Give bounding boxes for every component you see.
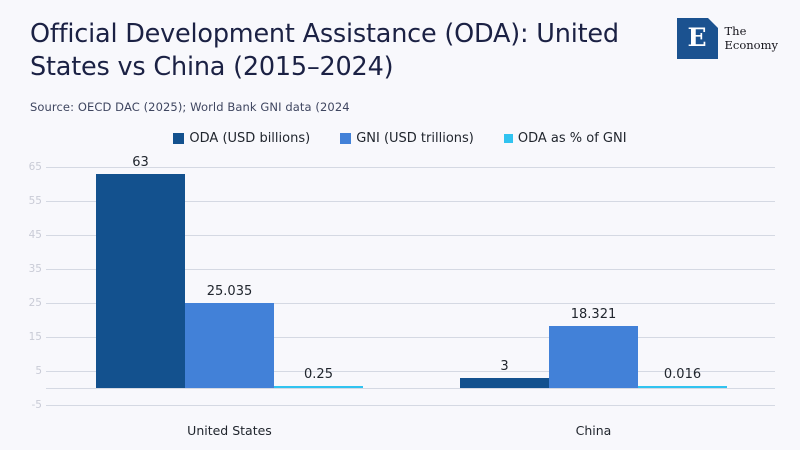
legend-item[interactable]: GNI (USD trillions) bbox=[340, 131, 474, 146]
y-axis-tick-label: 15 bbox=[2, 331, 42, 343]
bar-value-label: 18.321 bbox=[549, 307, 638, 322]
legend-label: ODA as % of GNI bbox=[518, 131, 627, 146]
page-title: Official Development Assistance (ODA): U… bbox=[30, 18, 655, 84]
x-axis-category-label: China bbox=[460, 423, 727, 438]
legend-label: GNI (USD trillions) bbox=[356, 131, 474, 146]
bar-value-label: 3 bbox=[460, 359, 549, 374]
brand-name-line2: Economy bbox=[725, 39, 779, 53]
chart-header: Official Development Assistance (ODA): U… bbox=[0, 0, 800, 120]
y-axis-tick-label: -5 bbox=[2, 399, 42, 411]
source-note: Source: OECD DAC (2025); World Bank GNI … bbox=[30, 100, 350, 114]
chart-bar[interactable] bbox=[185, 303, 274, 388]
legend-swatch-icon bbox=[173, 133, 184, 144]
y-axis-tick-label: 25 bbox=[2, 297, 42, 309]
bar-value-label: 0.016 bbox=[638, 367, 727, 382]
chart-legend: ODA (USD billions)GNI (USD trillions)ODA… bbox=[0, 131, 800, 146]
chart-bar[interactable] bbox=[460, 378, 549, 388]
chart-bar[interactable] bbox=[549, 326, 638, 388]
y-axis-tick-label: 65 bbox=[2, 161, 42, 173]
brand-logo: E The Economy bbox=[677, 18, 779, 59]
y-axis-tick-label: 45 bbox=[2, 229, 42, 241]
gridline bbox=[46, 405, 775, 406]
legend-item[interactable]: ODA (USD billions) bbox=[173, 131, 310, 146]
y-axis-tick-label: 55 bbox=[2, 195, 42, 207]
bar-value-label: 25.035 bbox=[185, 284, 274, 299]
chart-page: 6555453525155-56325.0350.25United States… bbox=[0, 0, 800, 450]
logo-fold-corner-icon bbox=[708, 18, 718, 28]
legend-label: ODA (USD billions) bbox=[189, 131, 310, 146]
x-axis-category-label: United States bbox=[96, 423, 363, 438]
bar-value-label: 63 bbox=[96, 155, 185, 170]
y-axis-tick-label: 35 bbox=[2, 263, 42, 275]
brand-name-line1: The bbox=[725, 24, 747, 38]
logo-mark-icon: E bbox=[677, 18, 718, 59]
brand-name: The Economy bbox=[725, 25, 779, 52]
legend-swatch-icon bbox=[340, 133, 351, 144]
legend-item[interactable]: ODA as % of GNI bbox=[504, 131, 627, 146]
chart-bar[interactable] bbox=[96, 174, 185, 388]
y-axis-tick-label: 5 bbox=[2, 365, 42, 377]
legend-swatch-icon bbox=[504, 134, 513, 143]
bar-value-label: 0.25 bbox=[274, 367, 363, 382]
zero-baseline bbox=[46, 388, 775, 389]
